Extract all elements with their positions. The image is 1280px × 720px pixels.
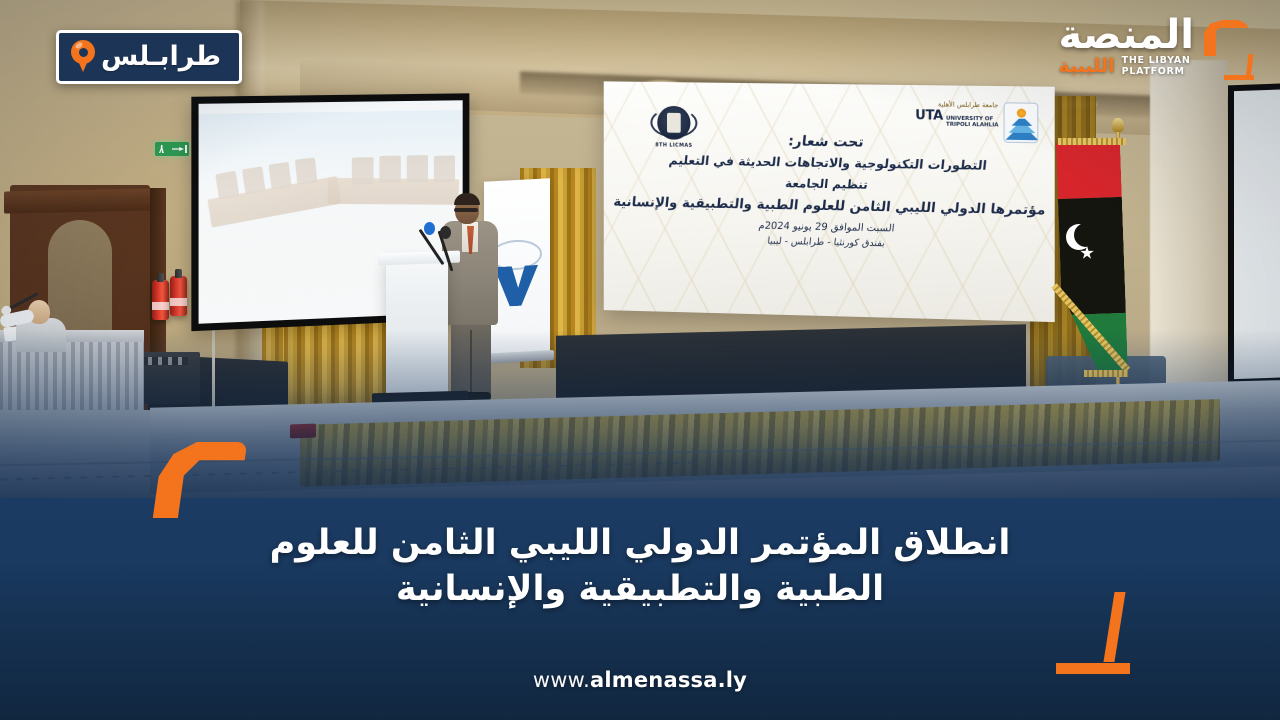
banner-line-6: بفندق كورنثيا - طرابلس - ليبيا [767, 236, 886, 250]
location-badge[interactable]: طرابـلس [56, 30, 242, 84]
licmas-logo-label: 8TH LICMAS [650, 142, 697, 149]
brand-name-arabic-secondary: الليبية [1058, 57, 1114, 76]
url-domain: almenassa.ly [590, 668, 747, 692]
conference-backdrop-banner: 8TH LICMAS جامعة طرابلس الأهلية UTA UNIV… [604, 81, 1055, 322]
microphone-head-icon [440, 226, 451, 239]
brand-name-arabic: المنصة [1058, 16, 1194, 54]
licmas-logo: 8TH LICMAS [650, 106, 697, 156]
uta-logo: جامعة طرابلس الأهلية UTA UNIVERSITY OF T… [915, 101, 1038, 143]
banner-line-5: السبت الموافق 29 يونيو 2024م [758, 221, 895, 235]
news-card: 8TH LICMAS جامعة طرابلس الأهلية UTA UNIV… [0, 0, 1280, 720]
red-case [290, 424, 316, 439]
brand-en-line2: PLATFORM [1122, 66, 1185, 77]
banner-line-2: التطورات التكنولوجية والاتجاهات الحديثة … [668, 152, 987, 172]
emergency-exit-sign-icon [155, 142, 189, 156]
brand-name-english: THE LIBYAN PLATFORM [1122, 55, 1191, 77]
speaker-glasses-icon [454, 208, 478, 212]
banner-line-3: تنظيم الجامعة [784, 176, 868, 191]
website-url[interactable]: www.almenassa.ly [0, 668, 1280, 692]
brand-wordmark: المنصة THE LIBYAN PLATFORM الليبية [1058, 16, 1194, 77]
url-prefix: www. [533, 668, 590, 692]
location-pin-icon [71, 40, 95, 72]
crescent-icon [1066, 224, 1092, 250]
headline-line-2: الطبية والتطبيقية والإنسانية [120, 566, 1160, 612]
brand-en-line1: THE LIBYAN [1122, 55, 1191, 66]
brand-bracket-icon [1202, 16, 1258, 84]
microphone-head-icon [424, 222, 435, 235]
uta-abbr: UTA [915, 108, 943, 123]
banner-line-1: تحت شعار: [788, 133, 865, 150]
brand-logo[interactable]: المنصة THE LIBYAN PLATFORM الليبية [1058, 16, 1258, 84]
fire-extinguisher-icon [170, 276, 187, 316]
licmas-crest-icon [657, 106, 690, 140]
fire-extinguisher-icon [152, 280, 169, 320]
flag-cloth [1056, 141, 1128, 375]
uta-en-line2: TRIPOLI ALAHLIA [946, 122, 998, 129]
headline: انطلاق المؤتمر الدولي الليبي الثامن للعل… [120, 520, 1160, 612]
podium [386, 258, 448, 398]
speaker-leg-split [470, 330, 472, 396]
archway-cornice [4, 188, 156, 213]
projection-screen-right [1228, 83, 1280, 386]
quote-bracket-open-icon [158, 442, 242, 518]
headline-line-1: انطلاق المؤتمر الدولي الليبي الثامن للعل… [270, 523, 1011, 563]
banner-line-4: مؤتمرها الدولي الليبي الثامن للعلوم الطب… [612, 194, 1046, 218]
uta-pyramid-icon [1004, 102, 1039, 143]
flag-finial [1112, 118, 1124, 132]
location-label: طرابـلس [101, 43, 221, 70]
